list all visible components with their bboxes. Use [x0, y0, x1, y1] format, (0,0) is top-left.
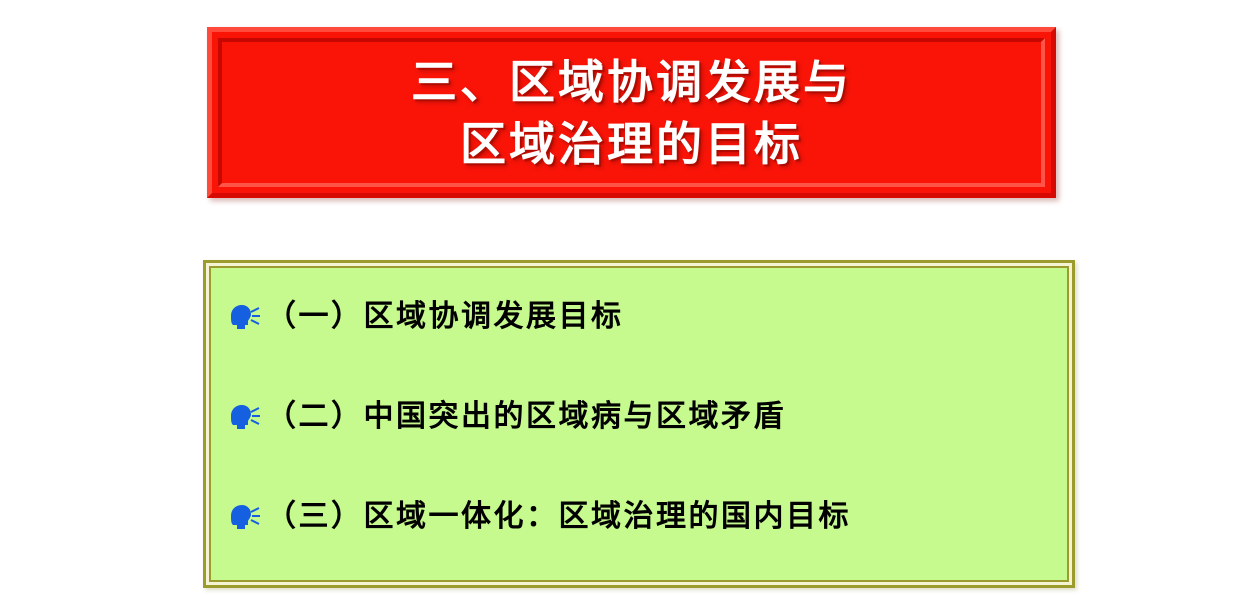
speaking-head-icon	[226, 503, 264, 533]
slide-canvas: 三、区域协调发展与 区域治理的目标 （一）区域协调发展目标	[0, 0, 1237, 595]
title-line-2: 区域治理的目标	[460, 113, 803, 175]
list-item-label: （一）区域协调发展目标	[266, 298, 624, 336]
list-item-label: （二）中国突出的区域病与区域矛盾	[266, 398, 786, 436]
list-item: （二）中国突出的区域病与区域矛盾	[226, 395, 1052, 439]
list-item-label: （三）区域一体化：区域治理的国内目标	[266, 498, 851, 536]
title-text-block: 三、区域协调发展与 区域治理的目标	[225, 45, 1038, 180]
speaking-head-icon	[226, 403, 264, 433]
list-item: （一）区域协调发展目标	[226, 295, 1052, 339]
title-banner: 三、区域协调发展与 区域治理的目标	[207, 27, 1056, 198]
bullet-list: （一）区域协调发展目标 （二）中国突出的区域病与区域矛盾	[206, 263, 1072, 585]
content-box: （一）区域协调发展目标 （二）中国突出的区域病与区域矛盾	[203, 260, 1075, 588]
title-line-1: 三、区域协调发展与	[411, 51, 852, 113]
speaking-head-icon	[226, 303, 264, 333]
list-item: （三）区域一体化：区域治理的国内目标	[226, 495, 1052, 539]
